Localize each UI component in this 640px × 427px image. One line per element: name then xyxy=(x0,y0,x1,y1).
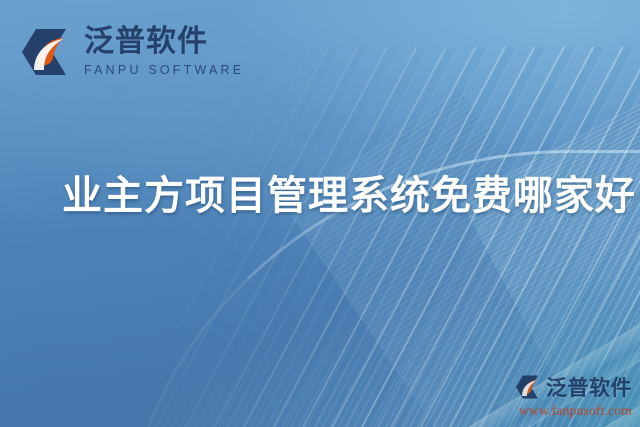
brand-text-block: 泛普软件 FANPU SOFTWARE xyxy=(84,27,244,77)
fanpu-hexagon-sail-logo xyxy=(22,26,74,78)
brand-name-cn: 泛普软件 xyxy=(84,27,244,57)
brand-name-en: FANPU SOFTWARE xyxy=(84,64,244,77)
fanpu-hexagon-sail-logo xyxy=(516,374,542,400)
watermark-url: www.fanpusoft.com xyxy=(492,403,632,419)
promo-banner: 泛普软件 FANPU SOFTWARE 业主方项目管理系统免费哪家好 泛普软件 … xyxy=(0,0,640,427)
brand-logo: 泛普软件 FANPU SOFTWARE xyxy=(22,26,244,78)
page-title: 业主方项目管理系统免费哪家好 xyxy=(62,174,636,219)
watermark-logo-row: 泛普软件 xyxy=(492,372,632,402)
watermark: 泛普软件 www.fanpusoft.com xyxy=(492,372,632,419)
watermark-name-cn: 泛普软件 xyxy=(546,372,632,402)
